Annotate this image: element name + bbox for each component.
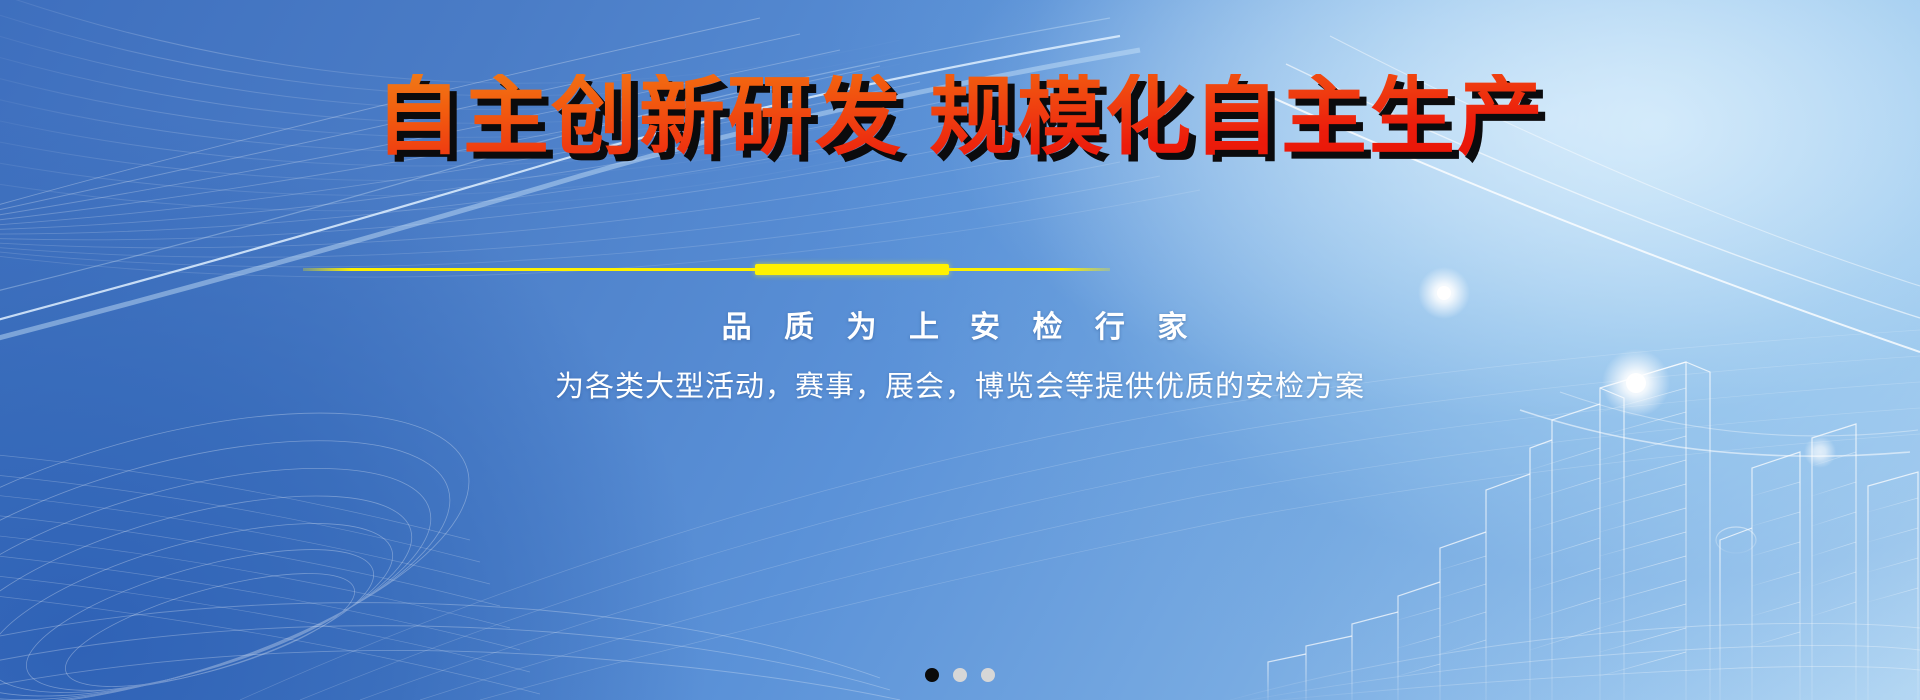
carousel-dot-2[interactable] [953, 668, 967, 682]
subtitle-container: 品 质 为 上安 检 行 家 为各类大型活动，赛事，展会，博览会等提供优质的安检… [0, 308, 1920, 406]
divider-thin-line [303, 268, 1110, 271]
description: 为各类大型活动，赛事，展会，博览会等提供优质的安检方案 [0, 367, 1920, 406]
divider [303, 268, 1110, 271]
carousel-dot-3[interactable] [981, 668, 995, 682]
carousel-dot-1[interactable] [925, 668, 939, 682]
subtitle-left: 品 质 为 上 [722, 310, 950, 345]
subtitle: 品 质 为 上安 检 行 家 [0, 308, 1920, 347]
divider-accent-bar [755, 264, 949, 275]
carousel-dots [0, 668, 1920, 682]
subtitle-right: 安 检 行 家 [970, 310, 1198, 345]
hero-banner: 自主创新研发规模化自主生产 品 质 为 上安 检 行 家 为各类大型活动，赛事，… [0, 0, 1920, 700]
